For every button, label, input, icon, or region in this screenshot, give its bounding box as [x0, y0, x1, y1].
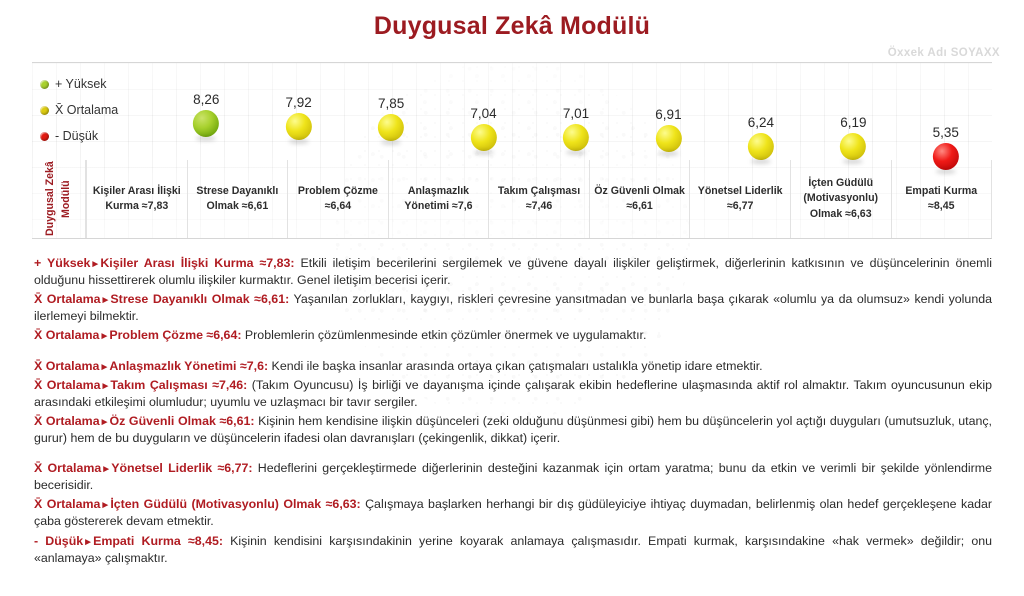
- description-lead: X̄ Ortalama►Problem Çözme ≈6,64:: [34, 328, 241, 342]
- description-name: Anlaşmazlık Yönetimi ≈7,6:: [109, 359, 268, 373]
- chart-point-value: 6,91: [655, 107, 681, 122]
- description-list: + Yüksek►Kişiler Arası İlişki Kurma ≈7,8…: [34, 255, 992, 569]
- chart-point-value: 8,26: [193, 92, 219, 107]
- competency-column-label: (Motivasyonlu): [803, 191, 878, 206]
- description-name: Yönetsel Liderlik ≈6,77:: [111, 461, 252, 475]
- right-triangle-icon: ►: [101, 295, 111, 306]
- competency-column-label: Strese Dayanıklı: [196, 184, 278, 199]
- description-item: + Yüksek►Kişiler Arası İlişki Kurma ≈7,8…: [34, 255, 992, 289]
- chart-point: 7,01: [563, 106, 589, 151]
- competency-column-3: Problem Çözme≈6,64: [287, 160, 388, 238]
- description-lead: X̄ Ortalama►Öz Güvenli Olmak ≈6,61:: [34, 414, 255, 428]
- chart-point-marker-ortalama: [471, 124, 497, 151]
- competency-column-label: Yönetsel Liderlik: [698, 184, 783, 199]
- legend-dot-icon: [40, 106, 49, 115]
- chart-point-marker-yuksek: [193, 110, 219, 137]
- description-level: X̄ Ortalama: [34, 328, 99, 342]
- competency-column-label: Kurma ≈7,83: [93, 199, 181, 214]
- competency-column-5: Takım Çalışması≈7,46: [488, 160, 589, 238]
- description-name: Kişiler Arası İlişki Kurma ≈7,83:: [100, 256, 294, 270]
- competency-column-label: Takım Çalışması: [498, 184, 580, 199]
- competency-column-label: Empati Kurma: [905, 184, 977, 199]
- chart-point-marker-ortalama: [563, 124, 589, 151]
- competency-column-label: Problem Çözme: [298, 184, 378, 199]
- description-name: Strese Dayanıklı Olmak ≈6,61:: [110, 292, 289, 306]
- description-lead: X̄ Ortalama►Anlaşmazlık Yönetimi ≈7,6:: [34, 359, 268, 373]
- competency-column-label: Olmak ≈6,63: [803, 207, 878, 222]
- competency-column-2: Strese DayanıklıOlmak ≈6,61: [187, 160, 288, 238]
- competency-column-label: Kişiler Arası İlişki: [93, 184, 181, 199]
- right-triangle-icon: ►: [99, 362, 109, 373]
- description-item: X̄ Ortalama►Öz Güvenli Olmak ≈6,61: Kişi…: [34, 413, 992, 447]
- legend-item-dusuk: - Düşük: [40, 123, 160, 149]
- competency-column-label: ≈6,61: [594, 199, 685, 214]
- legend-item-yuksek: + Yüksek: [40, 71, 160, 97]
- description-item: X̄ Ortalama►Anlaşmazlık Yönetimi ≈7,6: K…: [34, 358, 992, 375]
- right-triangle-icon: ►: [101, 381, 111, 392]
- right-triangle-icon: ►: [100, 500, 110, 511]
- description-level: X̄ Ortalama: [34, 497, 100, 511]
- chart-point-value: 7,04: [470, 106, 496, 121]
- legend-item-ortalama: X̄ Ortalama: [40, 97, 160, 123]
- chart-point-marker-ortalama: [840, 133, 866, 160]
- legend-item-label: - Düşük: [55, 129, 98, 143]
- chart-point: 7,04: [470, 106, 496, 151]
- competency-column-8: İçten Güdülü(Motivasyonlu)Olmak ≈6,63: [790, 160, 891, 238]
- page-title: Duygusal Zekâ Modülü: [0, 0, 1024, 41]
- legend-dot-icon: [40, 132, 49, 141]
- competency-column-4: AnlaşmazlıkYönetimi ≈7,6: [388, 160, 489, 238]
- description-item: X̄ Ortalama►Strese Dayanıklı Olmak ≈6,61…: [34, 291, 992, 325]
- competency-column-label: Olmak ≈6,61: [196, 199, 278, 214]
- description-lead: X̄ Ortalama►İçten Güdülü (Motivasyonlu) …: [34, 497, 361, 511]
- competency-column-label: Anlaşmazlık: [404, 184, 472, 199]
- competency-column-label: Öz Güvenli Olmak: [594, 184, 685, 199]
- chart-point-marker-ortalama: [378, 114, 404, 141]
- description-item: X̄ Ortalama►Problem Çözme ≈6,64: Problem…: [34, 327, 992, 344]
- description-body: Kendi ile başka insanlar arasında ortaya…: [268, 359, 763, 373]
- description-lead: + Yüksek►Kişiler Arası İlişki Kurma ≈7,8…: [34, 256, 295, 270]
- competency-column-label: ≈6,64: [298, 199, 378, 214]
- competency-column-label: ≈8,45: [905, 199, 977, 214]
- description-name: Öz Güvenli Olmak ≈6,61:: [110, 414, 255, 428]
- right-triangle-icon: ►: [100, 417, 110, 428]
- chart-point: 6,24: [748, 115, 774, 160]
- description-level: X̄ Ortalama: [34, 359, 99, 373]
- description-item: X̄ Ortalama►İçten Güdülü (Motivasyonlu) …: [34, 496, 992, 530]
- description-lead: - Düşük►Empati Kurma ≈8,45:: [34, 534, 223, 548]
- legend-dot-icon: [40, 80, 49, 89]
- chart-point-marker-ortalama: [655, 125, 681, 152]
- chart-point: 6,19: [840, 115, 866, 160]
- chart-point-value: 6,24: [748, 115, 774, 130]
- chart-point-value: 5,35: [933, 125, 959, 140]
- description-lead: X̄ Ortalama►Yönetsel Liderlik ≈6,77:: [34, 461, 253, 475]
- row-label-cell: Duygusal Zekâ Modülü: [32, 160, 86, 238]
- competency-column-9: Empati Kurma≈8,45: [891, 160, 993, 238]
- chart-point: 6,91: [655, 107, 681, 152]
- chart-point-marker-ortalama: [286, 113, 312, 140]
- right-triangle-icon: ►: [83, 537, 93, 548]
- competency-column-label: İçten Güdülü: [803, 176, 878, 191]
- chart-legend: + YüksekX̄ Ortalama- Düşük: [40, 71, 160, 149]
- chart-point-value: 6,19: [840, 115, 866, 130]
- legend-item-label: X̄ Ortalama: [55, 103, 118, 117]
- competency-column-7: Yönetsel Liderlik≈6,77: [689, 160, 790, 238]
- right-triangle-icon: ►: [99, 331, 109, 342]
- report-page: Duygusal Zekâ Modülü Öxxek Adı SOYAXX + …: [0, 0, 1024, 596]
- chart-point-value: 7,85: [378, 96, 404, 111]
- description-lead: X̄ Ortalama►Strese Dayanıklı Olmak ≈6,61…: [34, 292, 289, 306]
- description-level: X̄ Ortalama: [34, 378, 101, 392]
- chart-point-marker-ortalama: [748, 133, 774, 160]
- description-level: - Düşük: [34, 534, 83, 548]
- description-level: X̄ Ortalama: [34, 461, 101, 475]
- description-name: Takım Çalışması ≈7,46:: [110, 378, 247, 392]
- person-name-watermark: Öxxek Adı SOYAXX: [888, 47, 1000, 59]
- description-level: X̄ Ortalama: [34, 414, 100, 428]
- description-level: X̄ Ortalama: [34, 292, 101, 306]
- description-name: İçten Güdülü (Motivasyonlu) Olmak ≈6,63:: [110, 497, 360, 511]
- competency-column-6: Öz Güvenli Olmak≈6,61: [589, 160, 690, 238]
- competency-column-label: ≈6,77: [698, 199, 783, 214]
- competency-column-label: Yönetimi ≈7,6: [404, 199, 472, 214]
- chart-point: 7,92: [286, 95, 312, 140]
- description-name: Empati Kurma ≈8,45:: [93, 534, 223, 548]
- description-name: Problem Çözme ≈6,64:: [109, 328, 241, 342]
- competency-column-label: ≈7,46: [498, 199, 580, 214]
- right-triangle-icon: ►: [101, 464, 111, 475]
- chart-point: 8,26: [193, 92, 219, 137]
- description-level: + Yüksek: [34, 256, 90, 270]
- description-body: Problemlerin çözümlenmesinde etkin çözüm…: [241, 328, 646, 342]
- legend-item-label: + Yüksek: [55, 77, 107, 91]
- chart-point: 7,85: [378, 96, 404, 141]
- right-triangle-icon: ►: [90, 259, 100, 270]
- description-lead: X̄ Ortalama►Takım Çalışması ≈7,46:: [34, 378, 247, 392]
- chart-point-value: 7,01: [563, 106, 589, 121]
- chart-point-value: 7,92: [286, 95, 312, 110]
- competency-header-row: Duygusal Zekâ Modülü Kişiler Arası İlişk…: [32, 160, 992, 238]
- row-label-text: Duygusal Zekâ Modülü: [43, 160, 75, 238]
- description-item: - Düşük►Empati Kurma ≈8,45: Kişinin kend…: [34, 533, 992, 567]
- description-item: X̄ Ortalama►Takım Çalışması ≈7,46: (Takı…: [34, 377, 992, 411]
- competency-column-1: Kişiler Arası İlişkiKurma ≈7,83: [86, 160, 187, 238]
- description-item: X̄ Ortalama►Yönetsel Liderlik ≈6,77: Hed…: [34, 460, 992, 494]
